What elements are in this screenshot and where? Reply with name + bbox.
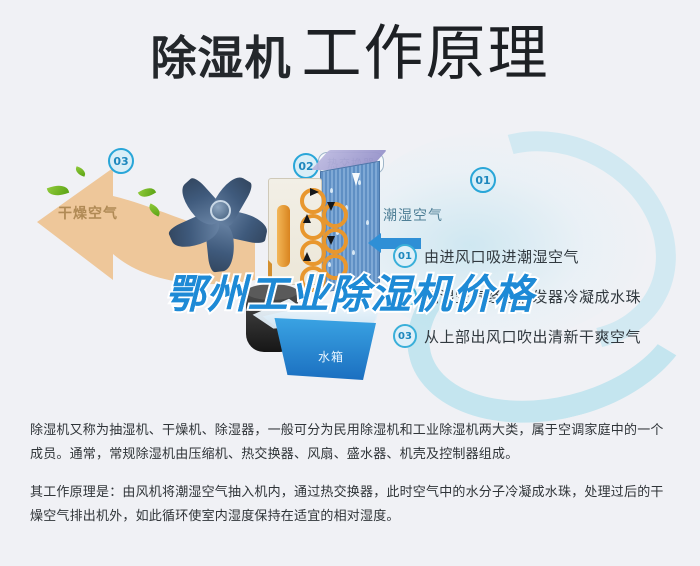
page-title: 除湿机工作原理 [0,24,700,84]
step-badge-03: 03 [393,324,417,348]
description-body: 除湿机又称为抽湿机、干燥机、除湿器，一般可分为民用除湿机和工业除湿机两大类，属于… [30,418,675,542]
page-title-part1: 除湿机 [151,32,292,84]
airflow-arrow-up-icon [303,252,311,261]
paragraph-2: 其工作原理是：由风机将潮湿空气抽入机内，通过热交换器，此时空气中的水分子冷凝成水… [30,480,675,528]
airflow-arrow-down-icon [327,202,335,211]
step-text-03: 从上部出风口吹出清新干爽空气 [424,326,641,347]
airflow-arrow-down-icon [327,236,335,245]
refrigerant-cylinder [277,205,290,267]
diagram-badge-01: 01 [470,167,496,193]
page-root: 除湿机工作原理 干燥空气 潮湿空气 03 02 01 热交换器 [0,0,700,566]
water-tank-label: 水箱 [318,348,344,365]
diagram-badge-03: 03 [108,148,134,174]
watermark-text: 鄂州工业除湿机价格 [0,262,700,320]
list-item: 03 从上部出风口吹出清新干爽空气 [393,324,693,348]
humid-air-label: 潮湿空气 [383,205,443,225]
page-title-part2: 工作原理 [302,19,550,89]
dry-air-label: 干燥空气 [58,203,118,223]
airflow-arrow-right-icon [310,188,319,196]
fan-icon [168,158,278,263]
paragraph-1: 除湿机又称为抽湿机、干燥机、除湿器，一般可分为民用除湿机和工业除湿机两大类，属于… [30,418,675,466]
airflow-arrow-up-icon [303,214,311,223]
